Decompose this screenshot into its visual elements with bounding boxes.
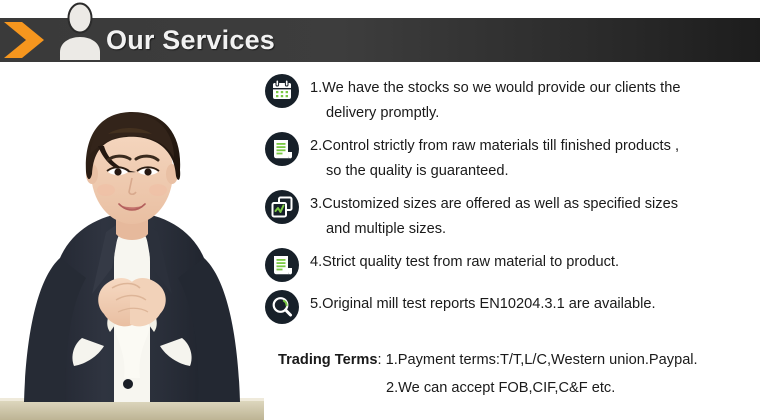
service-item-number: 2.: [310, 138, 322, 154]
copy-windows-check-icon: [264, 189, 300, 225]
service-item-number: 5.: [310, 296, 322, 312]
trading-terms: Trading Terms: 1.Payment terms:T/T,L/C,W…: [278, 346, 760, 402]
service-item-text: 2.Control strictly from raw materials ti…: [310, 130, 760, 184]
services-list: 1.We have the stocks so we would provide…: [264, 72, 760, 330]
businesswoman-photo: [0, 62, 264, 420]
chevron-right-icon: [0, 18, 52, 62]
service-item-number: 4.: [310, 254, 322, 270]
page-title: Our Services: [106, 18, 275, 62]
service-item-line1: Control strictly from raw materials till…: [322, 138, 679, 154]
service-item-line1: Customized sizes are offered as well as …: [322, 196, 678, 212]
document-scroll-icon: [264, 247, 300, 283]
service-item-line2: so the quality is guaranteed.: [310, 159, 760, 184]
service-item-text: 4.Strict quality test from raw material …: [310, 246, 760, 275]
service-item: 3.Customized sizes are offered as well a…: [264, 188, 760, 242]
header-banner: Our Services: [0, 0, 760, 70]
service-item: 1.We have the stocks so we would provide…: [264, 72, 760, 126]
service-item: 2.Control strictly from raw materials ti…: [264, 130, 760, 184]
trading-terms-label: Trading Terms: [278, 352, 377, 368]
service-item: 5.Original mill test reports EN10204.3.1…: [264, 288, 760, 325]
service-item-number: 3.: [310, 196, 322, 212]
service-item-text: 3.Customized sizes are offered as well a…: [310, 188, 760, 242]
service-item-text: 5.Original mill test reports EN10204.3.1…: [310, 288, 760, 317]
service-item-line2: and multiple sizes.: [310, 217, 760, 242]
service-item-number: 1.: [310, 80, 322, 96]
document-scroll-icon: [264, 131, 300, 167]
service-item-line1: Original mill test reports EN10204.3.1 a…: [322, 296, 655, 312]
trading-terms-line1: 1.Payment terms:T/T,L/C,Western union.Pa…: [382, 352, 698, 368]
service-item-text: 1.We have the stocks so we would provide…: [310, 72, 760, 126]
service-item-line2: delivery promptly.: [310, 101, 760, 126]
service-item-line1: We have the stocks so we would provide o…: [322, 80, 680, 96]
service-item: 4.Strict quality test from raw material …: [264, 246, 760, 283]
service-item-line1: Strict quality test from raw material to…: [322, 254, 619, 270]
person-silhouette-icon: [56, 2, 104, 60]
trading-terms-line2: 2.We can accept FOB,CIF,C&F etc.: [278, 374, 760, 402]
calendar-icon: [264, 73, 300, 109]
services-content: 1.We have the stocks so we would provide…: [264, 72, 760, 420]
magnifier-search-icon: [264, 289, 300, 325]
